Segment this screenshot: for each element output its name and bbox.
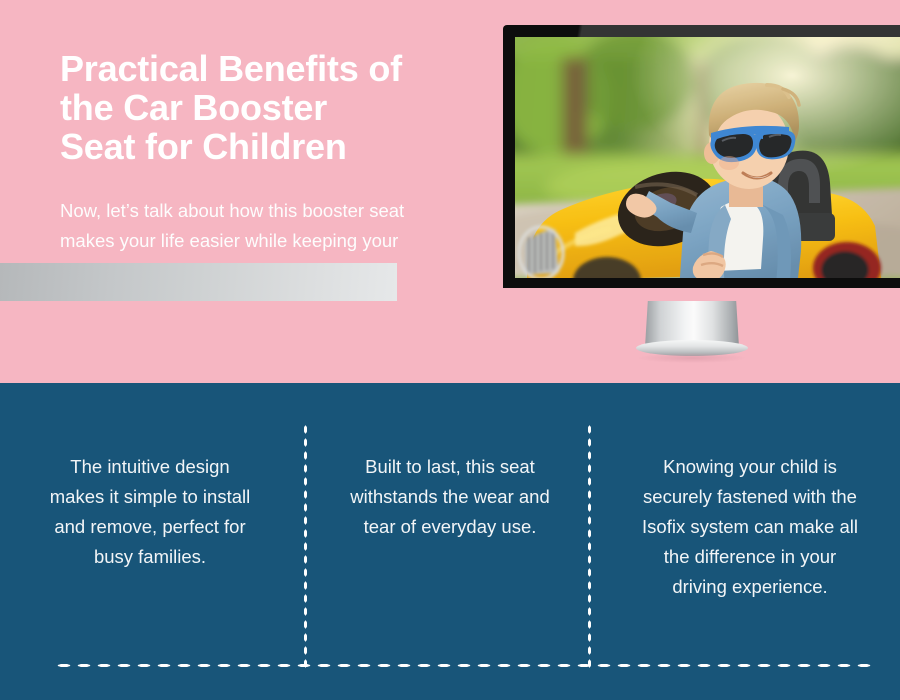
boy-in-toy-car-photo (515, 37, 900, 278)
monitor-stand-shadow (638, 353, 746, 363)
benefit-column-durability: Built to last, this seat withstands the … (300, 452, 600, 602)
bezel-highlight (503, 25, 900, 37)
desktop-monitor (503, 25, 900, 288)
page-title: Practical Benefits of the Car Booster Se… (60, 49, 480, 166)
benefit-text: Built to last, this seat withstands the … (340, 452, 560, 542)
benefit-column-isofix-safety: Knowing your child is securely fastened … (600, 452, 900, 602)
hero-text-block: Practical Benefits of the Car Booster Se… (60, 49, 480, 286)
infographic-slide: Practical Benefits of the Car Booster Se… (0, 0, 900, 700)
monitor-bezel (503, 25, 900, 288)
benefit-text: Knowing your child is securely fastened … (638, 452, 862, 602)
monitor-screen (515, 37, 900, 278)
horizontal-dotted-divider (54, 663, 876, 668)
monitor-chin-bar (0, 263, 397, 301)
benefit-text: The intuitive design makes it simple to … (48, 452, 252, 572)
benefits-row: The intuitive design makes it simple to … (0, 452, 900, 602)
benefit-column-ease-of-installation: The intuitive design makes it simple to … (0, 452, 300, 602)
